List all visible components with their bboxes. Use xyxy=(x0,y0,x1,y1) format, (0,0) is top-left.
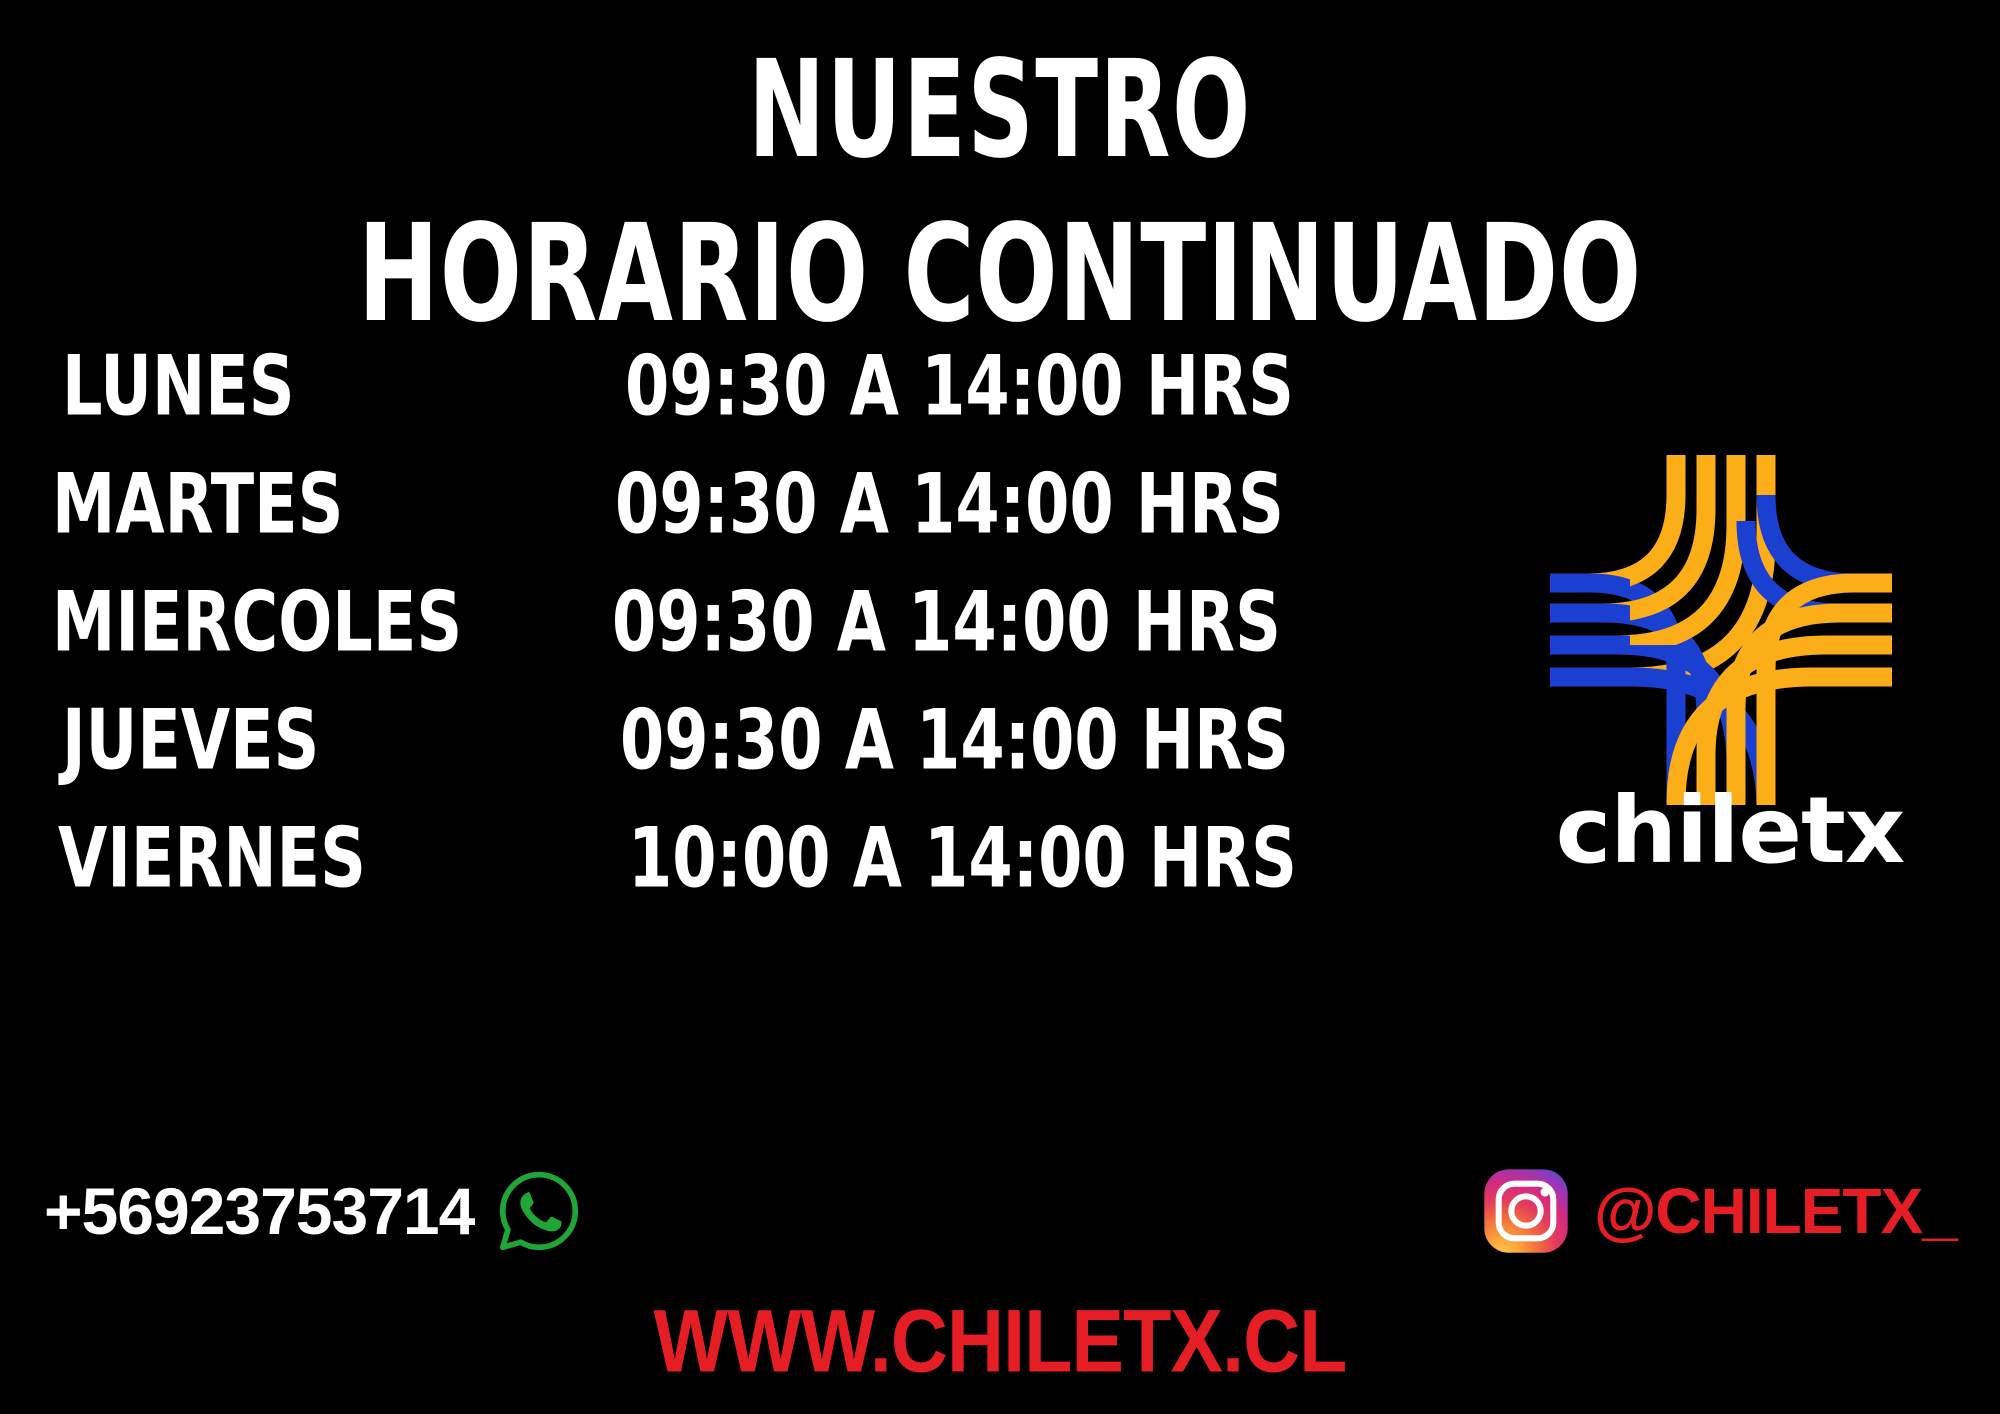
phone-contact-group[interactable]: +56923753714 xyxy=(44,1168,582,1254)
brand-wordmark: chiletx xyxy=(1506,785,1955,877)
schedule-row-martes: MARTES 09:30 A 14:00 HRS xyxy=(40,463,1220,581)
schedule-hours-value: 10:00 A 14:00 HRS xyxy=(628,817,1297,900)
schedule-day-label: MARTES xyxy=(52,463,343,546)
schedule-hours-value: 09:30 A 14:00 HRS xyxy=(620,699,1289,782)
schedule-day-label: MIERCOLES xyxy=(52,581,462,664)
schedule-row-miercoles: MIERCOLES 09:30 A 14:00 HRS xyxy=(40,581,1220,699)
brand-logo: chiletx xyxy=(1510,455,1950,955)
schedule-table: LUNES 09:30 A 14:00 HRS MARTES 09:30 A 1… xyxy=(40,345,1220,935)
instagram-contact-group[interactable]: @CHILETX_ xyxy=(1480,1165,1957,1257)
schedule-row-viernes: VIERNES 10:00 A 14:00 HRS xyxy=(40,817,1220,935)
schedule-day-label: JUEVES xyxy=(62,699,319,782)
instagram-handle: @CHILETX_ xyxy=(1594,1179,1957,1243)
schedule-day-label: LUNES xyxy=(62,345,295,428)
instagram-icon[interactable] xyxy=(1480,1165,1572,1257)
schedule-hours-value: 09:30 A 14:00 HRS xyxy=(615,463,1284,546)
page-title-line-1: NUESTRO xyxy=(220,42,1780,177)
whatsapp-icon[interactable] xyxy=(496,1168,582,1254)
website-url[interactable]: WWW.CHILETX.CL xyxy=(60,1296,1940,1385)
horario-poster: NUESTRO HORARIO CONTINUADO LUNES 09:30 A… xyxy=(0,0,2000,1414)
schedule-row-jueves: JUEVES 09:30 A 14:00 HRS xyxy=(40,699,1220,817)
phone-number: +56923753714 xyxy=(44,1178,474,1244)
page-title-line-2: HORARIO CONTINUADO xyxy=(180,206,1820,341)
chiletx-woven-cross-icon xyxy=(1510,455,1930,805)
schedule-hours-value: 09:30 A 14:00 HRS xyxy=(625,345,1294,428)
schedule-row-lunes: LUNES 09:30 A 14:00 HRS xyxy=(40,345,1220,463)
schedule-day-label: VIERNES xyxy=(58,817,366,900)
schedule-hours-value: 09:30 A 14:00 HRS xyxy=(612,581,1281,664)
